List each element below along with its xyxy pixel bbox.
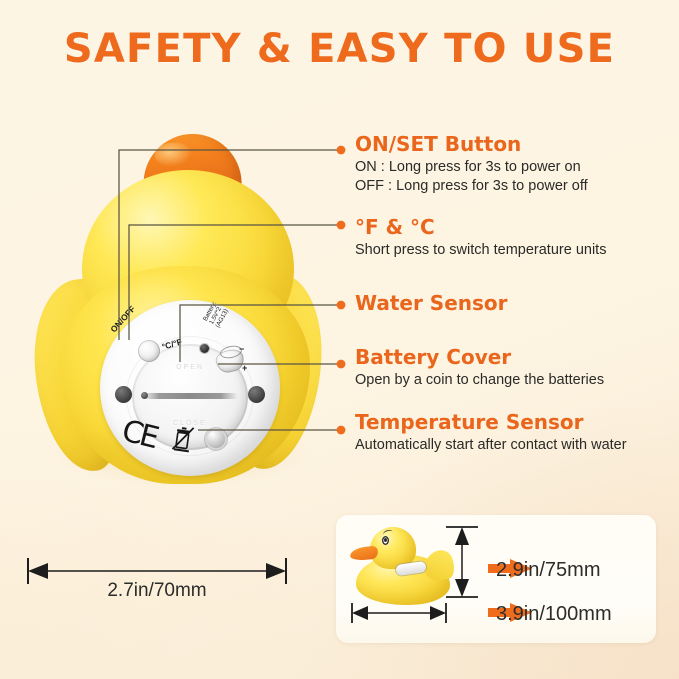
callout-line: Automatically start after contact with w… (355, 436, 627, 455)
battery-plus-label: + (242, 363, 247, 373)
beak-highlight (154, 142, 193, 167)
inset-height-label: 2.9in/75mm (496, 559, 601, 582)
callout-heading: Temperature Sensor (355, 410, 627, 434)
page-title: SAFETY & EASY TO USE (0, 26, 679, 72)
dimension-width-main: 2.7in/70mm (22, 556, 292, 616)
leader-dot-on-set (337, 146, 346, 155)
base-plate: OPEN CLOSE ON/OFF °C/°F Battery:1.5V*2(A… (100, 300, 280, 476)
callout-line: OFF : Long press for 3s to power off (355, 177, 588, 196)
callout-line: Open by a coin to change the batteries (355, 371, 604, 390)
temperature-sensor-probe (205, 428, 227, 450)
callout-on-set-button: ON/SET Button ON : Long press for 3s to … (355, 132, 588, 196)
leader-dot-battery-cover (337, 360, 346, 369)
callout-line: Short press to switch temperature units (355, 241, 606, 260)
ce-mark-icon: CE (119, 416, 159, 453)
water-sensor-contact (200, 344, 209, 353)
callout-heading: Battery Cover (355, 345, 604, 369)
base-foot-left (115, 386, 132, 403)
size-inset-panel: 2.9in/75mm 3.9in/100mm (336, 515, 656, 643)
inset-width-label: 3.9in/100mm (496, 603, 612, 626)
leader-dot-temperature-sensor (337, 426, 346, 435)
callout-line: ON : Long press for 3s to power on (355, 158, 588, 177)
on-off-button[interactable] (138, 340, 160, 362)
leader-dot-water-sensor (337, 301, 346, 310)
weee-bin-icon (170, 425, 195, 454)
coin-slot (142, 393, 238, 399)
callout-heading: °F & °C (355, 215, 606, 239)
callout-battery-cover: Battery Cover Open by a coin to change t… (355, 345, 604, 390)
callout-temperature-sensor: Temperature Sensor Automatically start a… (355, 410, 627, 455)
callout-water-sensor: Water Sensor (355, 291, 508, 317)
leader-dot-f-c (337, 221, 346, 230)
battery-cover-knob[interactable]: − + (214, 344, 248, 374)
callout-f-and-c: °F & °C Short press to switch temperatur… (355, 215, 606, 260)
base-small-contact (141, 392, 148, 399)
infographic-root: SAFETY & EASY TO USE OPEN CLOSE ON/OFF °… (0, 0, 679, 679)
callout-heading: ON/SET Button (355, 132, 588, 156)
callout-heading: Water Sensor (355, 291, 508, 315)
base-foot-right (248, 386, 265, 403)
product-illustration-top-view: OPEN CLOSE ON/OFF °C/°F Battery:1.5V*2(A… (22, 118, 322, 488)
battery-minus-label: − (239, 344, 244, 354)
dimension-width-label: 2.7in/70mm (22, 580, 292, 602)
